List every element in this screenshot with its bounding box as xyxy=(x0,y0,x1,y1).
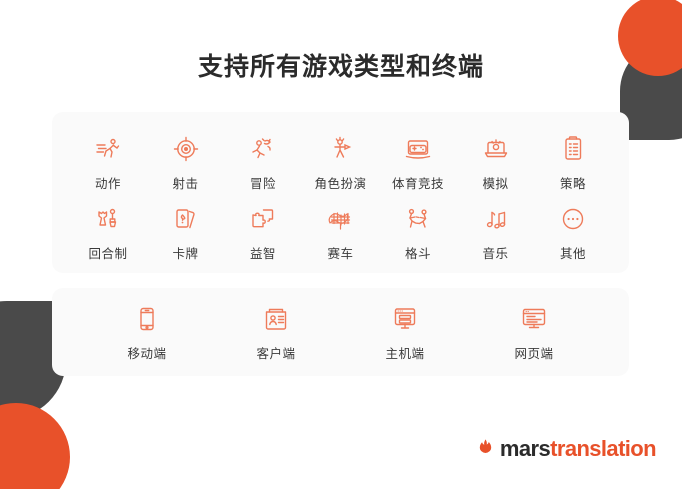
web-monitor-icon xyxy=(519,304,549,334)
genre-label: 其他 xyxy=(560,243,586,262)
genre-item-rpg[interactable]: 角色扮演 xyxy=(303,134,379,192)
simulation-laptop-icon xyxy=(481,134,511,164)
racing-flag-icon xyxy=(326,204,356,234)
genre-label: 模拟 xyxy=(482,173,508,192)
platform-label: 移动端 xyxy=(127,343,166,362)
platform-item-web[interactable]: 网页端 xyxy=(479,304,589,362)
genre-label: 动作 xyxy=(95,173,121,192)
genre-item-other[interactable]: 其他 xyxy=(535,204,611,262)
platform-item-client[interactable]: 客户端 xyxy=(221,304,331,362)
genre-label: 体育竞技 xyxy=(392,173,444,192)
genre-row-2: 回合制 卡牌 xyxy=(52,204,629,262)
slide-canvas: 支持所有游戏类型和终端 动作 xyxy=(0,0,682,489)
marstranslation-logo[interactable]: marstranslation xyxy=(476,437,656,461)
genre-item-cards[interactable]: 卡牌 xyxy=(148,204,224,262)
mars-flame-icon xyxy=(476,437,495,461)
mobile-phone-icon xyxy=(132,304,162,334)
genre-label: 回合制 xyxy=(88,243,127,262)
platform-row-1: 移动端 客户端 xyxy=(52,304,629,362)
genre-item-action[interactable]: 动作 xyxy=(70,134,146,192)
sports-gamepad-screen-icon xyxy=(403,134,433,164)
turn-based-chess-icon xyxy=(93,204,123,234)
platforms-panel: 移动端 客户端 xyxy=(52,288,629,376)
page-title: 支持所有游戏类型和终端 xyxy=(0,47,682,83)
genre-item-puzzle[interactable]: 益智 xyxy=(225,204,301,262)
playing-cards-icon xyxy=(171,204,201,234)
puzzle-piece-icon xyxy=(248,204,278,234)
genre-label: 冒险 xyxy=(250,173,276,192)
logo-text-mars: mars xyxy=(500,436,550,461)
role-play-character-icon xyxy=(326,134,356,164)
fighting-figures-icon xyxy=(403,204,433,234)
client-id-card-icon xyxy=(261,304,291,334)
platform-label: 客户端 xyxy=(256,343,295,362)
genre-label: 卡牌 xyxy=(172,243,198,262)
more-ellipsis-circle-icon xyxy=(558,204,588,234)
genre-label: 角色扮演 xyxy=(314,173,366,192)
genre-item-strategy[interactable]: 策略 xyxy=(535,134,611,192)
genre-label: 射击 xyxy=(172,173,198,192)
platform-item-console[interactable]: 主机端 xyxy=(350,304,460,362)
strategy-clipboard-icon xyxy=(558,134,588,164)
adventure-explorer-icon xyxy=(248,134,278,164)
genre-item-shooting[interactable]: 射击 xyxy=(148,134,224,192)
genre-item-turn-based[interactable]: 回合制 xyxy=(70,204,146,262)
platform-label: 主机端 xyxy=(385,343,424,362)
genre-item-sports[interactable]: 体育竞技 xyxy=(380,134,456,192)
genre-item-music[interactable]: 音乐 xyxy=(458,204,534,262)
logo-text-translation: translation xyxy=(550,436,656,461)
running-figure-icon xyxy=(93,134,123,164)
platform-item-mobile[interactable]: 移动端 xyxy=(92,304,202,362)
console-server-icon xyxy=(390,304,420,334)
platform-label: 网页端 xyxy=(514,343,553,362)
genre-label: 益智 xyxy=(250,243,276,262)
genre-label: 音乐 xyxy=(482,243,508,262)
genre-item-racing[interactable]: 赛车 xyxy=(303,204,379,262)
genre-label: 格斗 xyxy=(405,243,431,262)
genre-item-simulation[interactable]: 模拟 xyxy=(458,134,534,192)
genre-label: 策略 xyxy=(560,173,586,192)
bottom-left-orange-circle xyxy=(0,403,70,489)
genre-item-adventure[interactable]: 冒险 xyxy=(225,134,301,192)
crosshair-target-icon xyxy=(171,134,201,164)
genre-label: 赛车 xyxy=(327,243,353,262)
music-notes-icon xyxy=(481,204,511,234)
genre-item-fighting[interactable]: 格斗 xyxy=(380,204,456,262)
game-genres-panel: 动作 射击 xyxy=(52,112,629,273)
genre-row-1: 动作 射击 xyxy=(52,134,629,192)
